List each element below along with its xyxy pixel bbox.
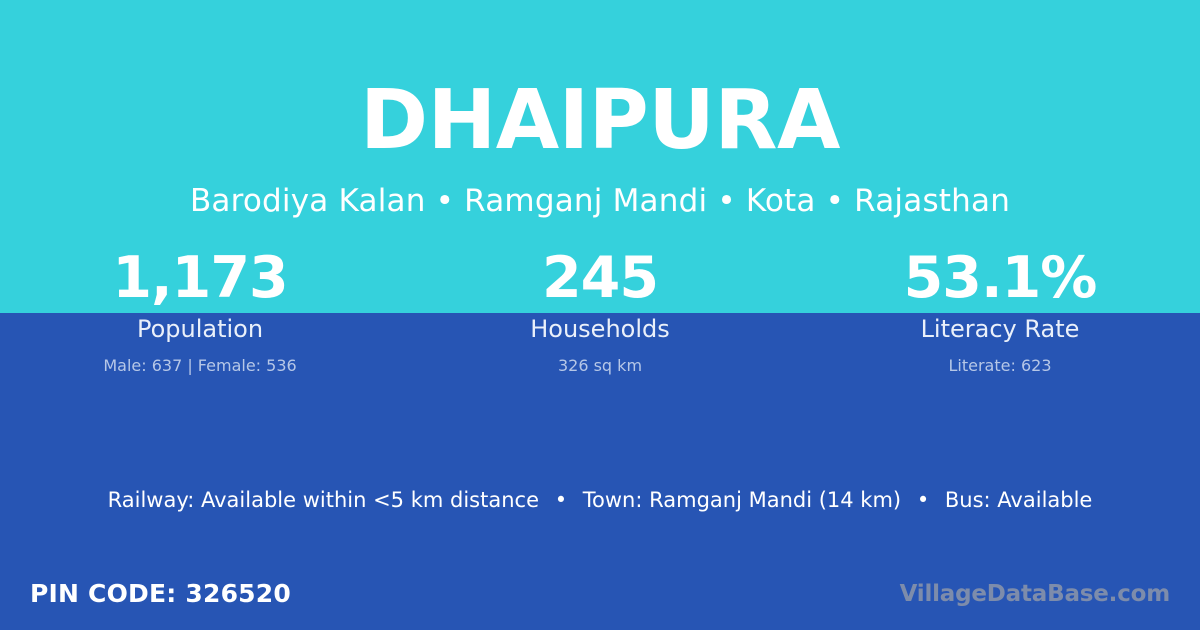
stat-subtext: Male: 637 | Female: 536 xyxy=(0,344,400,377)
stat-value: 53.1% xyxy=(800,244,1200,312)
stat-value: 1,173 xyxy=(0,244,400,312)
stat-label: Population xyxy=(0,312,400,344)
amenity-town: Town: Ramganj Mandi (14 km) xyxy=(583,488,901,512)
breadcrumb: Barodiya Kalan • Ramganj Mandi • Kota • … xyxy=(0,162,1200,217)
stats-row: 1,173 Population Male: 637 | Female: 536… xyxy=(0,244,1200,377)
stat-households: 245 Households 326 sq km xyxy=(400,244,800,377)
stat-subtext: 326 sq km xyxy=(400,344,800,377)
amenities-line: Railway: Available within <5 km distance… xyxy=(0,486,1200,514)
title-block: DHAIPURA Barodiya Kalan • Ramganj Mandi … xyxy=(0,0,1200,217)
site-watermark: VillageDataBase.com xyxy=(900,579,1200,609)
stat-label: Households xyxy=(400,312,800,344)
stat-subtext: Literate: 623 xyxy=(800,344,1200,377)
pin-code: PIN CODE: 326520 xyxy=(0,579,291,609)
amenity-bus: Bus: Available xyxy=(945,488,1092,512)
amenity-separator: • xyxy=(546,488,576,512)
stat-value: 245 xyxy=(400,244,800,312)
footer: PIN CODE: 326520 VillageDataBase.com xyxy=(0,558,1200,630)
stat-population: 1,173 Population Male: 637 | Female: 536 xyxy=(0,244,400,377)
amenity-railway: Railway: Available within <5 km distance xyxy=(108,488,539,512)
amenity-separator: • xyxy=(908,488,938,512)
stat-label: Literacy Rate xyxy=(800,312,1200,344)
stat-literacy-rate: 53.1% Literacy Rate Literate: 623 xyxy=(800,244,1200,377)
village-info-card: DHAIPURA Barodiya Kalan • Ramganj Mandi … xyxy=(0,0,1200,630)
page-title: DHAIPURA xyxy=(0,0,1200,162)
